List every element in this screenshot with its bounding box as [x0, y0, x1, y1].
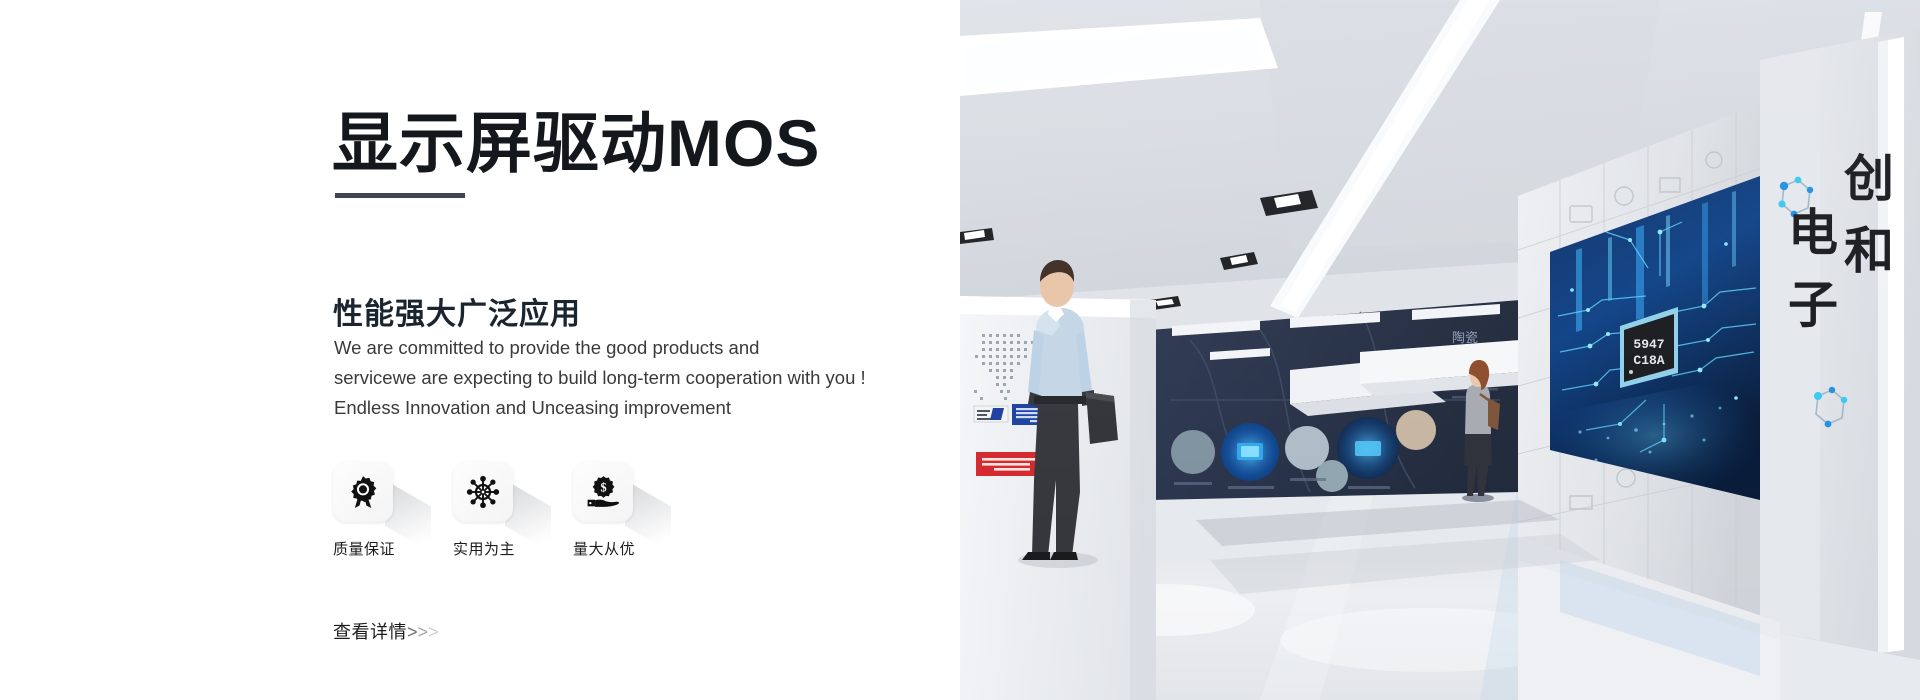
- description-line-1: We are committed to provide the good pro…: [334, 333, 894, 363]
- svg-text:$: $: [600, 481, 606, 495]
- feature-label: 量大从优: [573, 540, 635, 560]
- feature-tile: [453, 462, 513, 522]
- feature-item-quality[interactable]: 质量保证: [333, 462, 397, 560]
- feature-label: 实用为主: [453, 540, 515, 560]
- feature-list: 质量保证: [333, 462, 637, 560]
- chevron-3: >: [428, 622, 439, 642]
- text-panel: 显示屏驱动MOS 性能强大广泛应用 We are committed to pr…: [0, 0, 960, 700]
- title-divider: [335, 193, 465, 198]
- subtitle: 性能强大广泛应用: [333, 295, 581, 335]
- showroom-photo: 陶瓷 CHINA YOUJOIN: [960, 0, 1920, 700]
- feature-label: 质量保证: [333, 540, 395, 560]
- chevron-right-icon: >>>: [407, 622, 439, 642]
- award-ribbon-icon: [346, 475, 380, 509]
- description-line-3: Endless Innovation and Unceasing improve…: [334, 393, 894, 423]
- page-title: 显示屏驱动MOS: [332, 104, 820, 182]
- view-details-link[interactable]: 查看详情>>>: [333, 620, 439, 644]
- chevron-2: >: [418, 622, 429, 642]
- promo-banner: 显示屏驱动MOS 性能强大广泛应用 We are committed to pr…: [0, 0, 1920, 700]
- feature-tile: [333, 462, 393, 522]
- feature-tile: $: [573, 462, 633, 522]
- hand-coin-icon: $: [586, 475, 620, 509]
- view-details-label: 查看详情: [333, 622, 407, 642]
- network-chip-icon: [466, 475, 500, 509]
- chevron-1: >: [407, 622, 418, 642]
- feature-item-bulk-discount[interactable]: $ 量大从优: [573, 462, 637, 560]
- feature-item-practical[interactable]: 实用为主: [453, 462, 517, 560]
- description-text: We are committed to provide the good pro…: [334, 333, 894, 423]
- description-line-2: servicewe are expecting to build long-te…: [334, 363, 894, 393]
